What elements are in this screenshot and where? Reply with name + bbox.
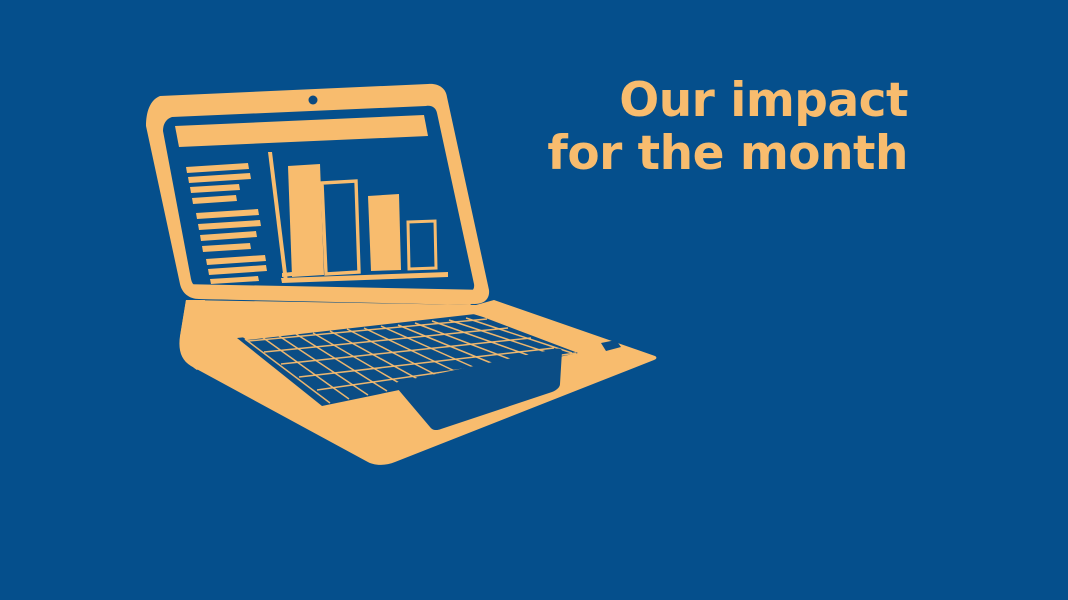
headline-line-1: Our impact: [470, 74, 908, 127]
chart-bar-1: [288, 164, 324, 277]
slide-canvas: Our impact for the month: [0, 0, 1068, 600]
headline-line-2: for the month: [470, 127, 908, 180]
headline: Our impact for the month: [470, 74, 908, 180]
webcam-dot-icon: [309, 96, 318, 105]
chart-bar-3: [368, 194, 401, 271]
